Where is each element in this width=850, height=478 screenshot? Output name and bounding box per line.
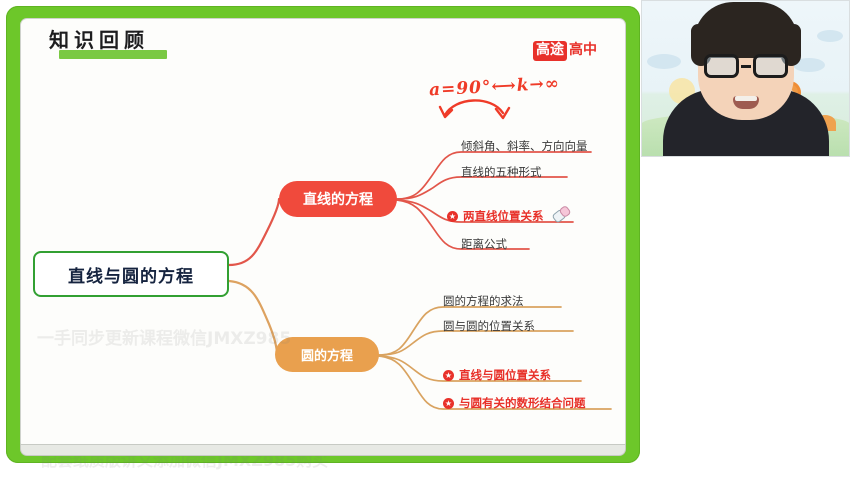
- branch-label: 圆的方程: [301, 345, 353, 364]
- leaf-label: 两直线位置关系: [463, 208, 544, 224]
- star-bullet-icon: [447, 211, 458, 222]
- mindmap: 直线与圆的方程 直线的方程 圆的方程 倾斜角、斜率、方向向量 直线的五种形式: [21, 19, 627, 451]
- title-label: 知识回顾: [49, 30, 149, 50]
- leaf-item[interactable]: 圆的方程的求法: [443, 293, 524, 309]
- slide-canvas[interactable]: 知识回顾 高途 高中: [20, 18, 626, 450]
- mindmap-branch-node-line-equation[interactable]: 直线的方程: [279, 181, 397, 217]
- leaf-item[interactable]: 直线的五种形式: [461, 164, 542, 180]
- watermark-middle: 一手同步更新课程微信JMXZ985: [37, 324, 291, 349]
- leaf-label: 直线的五种形式: [461, 164, 542, 180]
- star-bullet-icon: [443, 370, 454, 381]
- leaf-item[interactable]: 距离公式: [461, 236, 507, 252]
- leaf-item-highlighted[interactable]: 直线与圆位置关系: [443, 367, 551, 383]
- mindmap-root-label: 直线与圆的方程: [68, 262, 194, 287]
- leaf-label: 倾斜角、斜率、方向向量: [461, 138, 588, 154]
- leaf-label: 直线与圆位置关系: [459, 367, 551, 383]
- screen-root: 知识回顾 高途 高中: [0, 0, 850, 478]
- leaf-label: 与圆有关的数形结合问题: [459, 395, 586, 411]
- mindmap-root-node[interactable]: 直线与圆的方程: [33, 251, 229, 297]
- leaf-item[interactable]: 圆与圆的位置关系: [443, 318, 535, 334]
- leaf-label: 圆的方程的求法: [443, 293, 524, 309]
- leaf-label: 圆与圆的位置关系: [443, 318, 535, 334]
- webcam-border: [641, 0, 850, 157]
- branch-label: 直线的方程: [303, 189, 373, 209]
- page-title: 知识回顾: [49, 30, 149, 50]
- leaf-item[interactable]: 倾斜角、斜率、方向向量: [461, 138, 588, 154]
- leaf-item-highlighted[interactable]: 与圆有关的数形结合问题: [443, 395, 586, 411]
- leaf-label: 距离公式: [461, 236, 507, 252]
- star-bullet-icon: [443, 398, 454, 409]
- slide-bottom-shelf: [20, 444, 626, 456]
- leaf-item-highlighted[interactable]: 两直线位置关系: [447, 208, 544, 224]
- slide-frame: 知识回顾 高途 高中: [6, 6, 640, 463]
- webcam-panel[interactable]: [641, 0, 850, 157]
